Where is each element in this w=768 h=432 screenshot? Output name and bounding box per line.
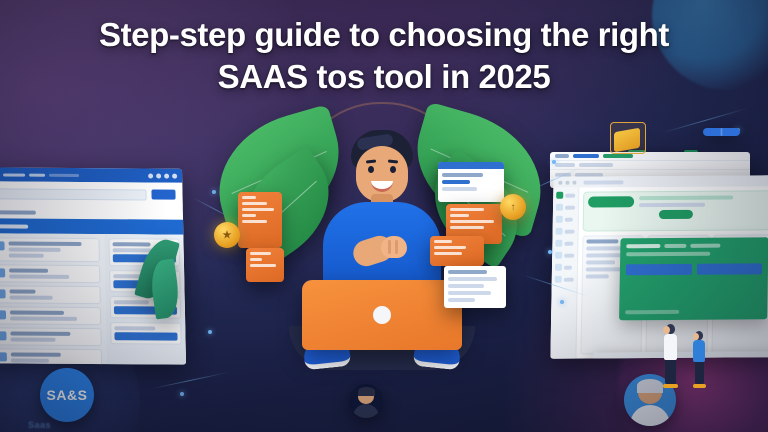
help-icon[interactable]	[156, 173, 161, 178]
list-item[interactable]	[0, 237, 100, 262]
decorative-plant	[142, 238, 182, 328]
item-avatar	[0, 289, 6, 298]
sidebar-item[interactable]	[555, 264, 574, 271]
right-dashboard-mockup[interactable]	[550, 175, 768, 359]
search-button[interactable]	[151, 189, 175, 199]
nav-item-1[interactable]	[3, 173, 25, 176]
network-node	[548, 250, 552, 254]
sidebar-item[interactable]	[555, 240, 574, 247]
presenter-right	[692, 331, 706, 388]
list-item[interactable]	[0, 306, 102, 325]
item-avatar	[0, 268, 5, 277]
green-panel-button-2[interactable]	[696, 263, 762, 274]
page-title: Step-step guide to choosing the right SA…	[0, 14, 768, 98]
item-avatar	[0, 241, 5, 250]
window-dot	[572, 180, 576, 184]
presenter-left	[662, 324, 678, 388]
hero-tag	[588, 196, 634, 207]
coin-left: ★	[214, 222, 240, 248]
list-item[interactable]	[0, 285, 101, 304]
network-node	[552, 160, 556, 164]
green-panel-button-1[interactable]	[626, 264, 692, 275]
network-node	[180, 392, 184, 396]
network-line	[151, 372, 229, 390]
left-dashboard-section-header	[0, 218, 183, 234]
sidebar-item[interactable]	[556, 228, 575, 235]
bell-icon[interactable]	[148, 173, 153, 178]
left-dashboard-topbar	[0, 167, 182, 182]
account-icon[interactable]	[172, 173, 177, 178]
headline-line-2: SAAS tos tool in 2025	[28, 56, 740, 98]
network-node	[208, 330, 212, 334]
white-list-card[interactable]	[444, 266, 506, 308]
brand-text: Saas	[28, 420, 51, 430]
pill-button-group[interactable]	[703, 128, 740, 136]
green-promo-panel[interactable]	[619, 237, 768, 320]
sidebar-item[interactable]	[556, 204, 575, 211]
headline-line-1: Step-step guide to choosing the right	[99, 16, 669, 53]
sidebar-item[interactable]	[556, 192, 575, 199]
smile	[371, 181, 393, 192]
grid-icon[interactable]	[164, 173, 169, 178]
orange-card-left[interactable]	[238, 192, 282, 248]
hero-illustration: ★ ↑	[232, 96, 532, 396]
left-dashboard-searchbar	[0, 181, 183, 206]
panel-row	[550, 161, 750, 170]
sidebar-item[interactable]	[555, 276, 574, 283]
panel-row	[550, 152, 750, 161]
widget-button[interactable]	[115, 332, 178, 340]
nav-item-3[interactable]	[49, 173, 79, 176]
item-avatar	[0, 310, 6, 319]
window-dot	[565, 180, 569, 184]
sidebar-item[interactable]	[555, 252, 574, 259]
window-dot	[558, 180, 562, 184]
hero-banner: ★ ↑ Step-step guide to choosing the righ…	[0, 0, 768, 432]
sidebar-item[interactable]	[556, 216, 575, 223]
search-input[interactable]	[0, 188, 147, 200]
saas-badge-label: SA&S	[47, 387, 88, 403]
topbar-icons	[148, 173, 177, 178]
hero-card[interactable]	[583, 190, 768, 231]
list-item[interactable]	[0, 264, 101, 283]
network-node	[560, 300, 564, 304]
network-node	[212, 190, 216, 194]
coin-right: ↑	[500, 194, 526, 220]
nav-item-2[interactable]	[29, 173, 45, 176]
white-window-card[interactable]	[438, 162, 504, 202]
orange-laptop	[302, 280, 462, 350]
gold-cube-icon	[606, 118, 650, 158]
orange-card-left-2[interactable]	[246, 248, 284, 282]
item-avatar	[0, 331, 7, 340]
laptop-logo	[373, 306, 391, 324]
pill-button-2[interactable]	[721, 128, 740, 136]
right-dashboard-sidebar[interactable]	[550, 188, 579, 359]
saas-logo-badge[interactable]: SA&S	[40, 368, 94, 422]
hand	[381, 236, 407, 258]
result-list	[0, 233, 107, 364]
orange-card-right-2[interactable]	[430, 236, 484, 266]
left-dashboard-subheader	[0, 205, 183, 219]
list-item[interactable]	[0, 348, 103, 364]
list-item[interactable]	[0, 327, 102, 346]
item-avatar	[0, 352, 7, 361]
pill-button-1[interactable]	[703, 128, 721, 136]
